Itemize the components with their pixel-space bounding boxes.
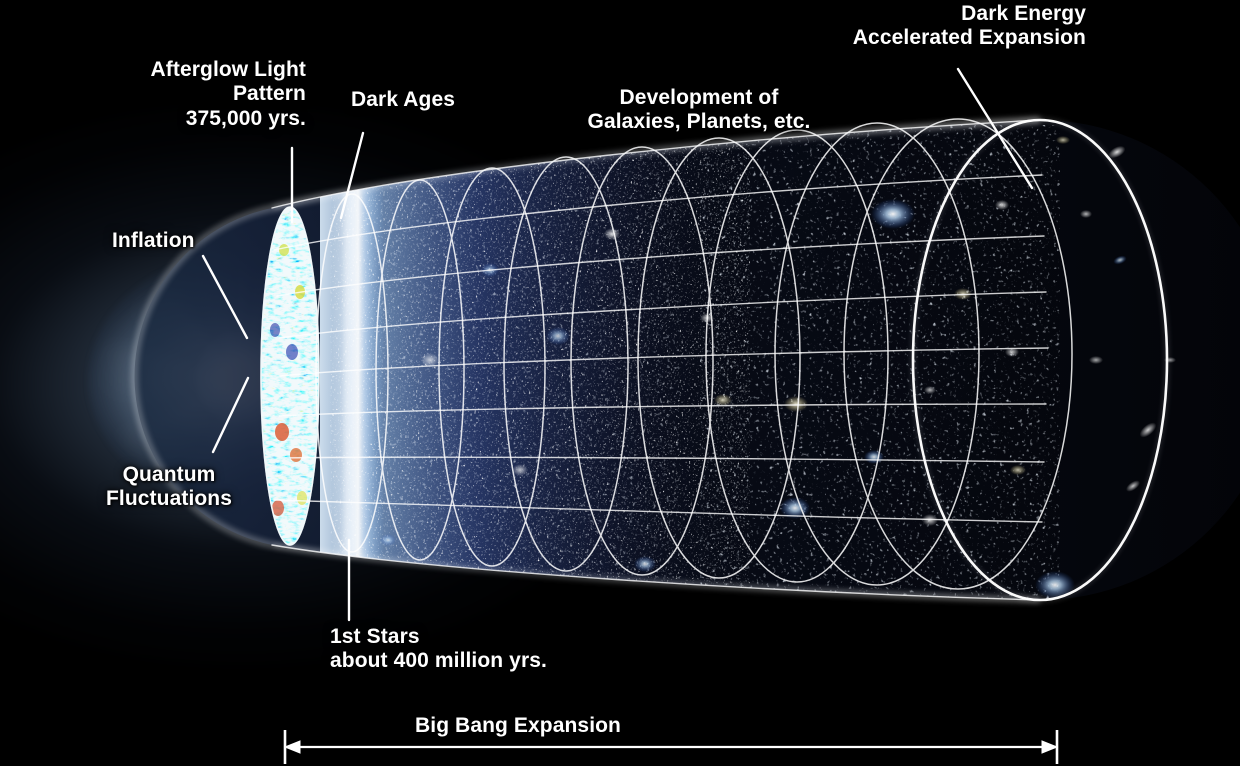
label-big-bang-expansion: Big Bang Expansion [415, 714, 621, 738]
label-development-of-galaxies: Development of Galaxies, Planets, etc. [549, 86, 849, 135]
label-inflation: Inflation [112, 229, 195, 253]
label-first-stars: 1st Stars about 400 million yrs. [330, 625, 547, 674]
label-dark-ages: Dark Ages [351, 88, 455, 112]
label-quantum-fluctuations: Quantum Fluctuations [104, 463, 234, 512]
label-dark-energy: Dark Energy Accelerated Expansion [800, 2, 1086, 51]
cosmology-timeline-diagram: Afterglow Light Pattern 375,000 yrs. Inf… [0, 0, 1240, 766]
arrowhead-left [285, 741, 300, 753]
label-afterglow-light-pattern: Afterglow Light Pattern 375,000 yrs. [106, 58, 306, 131]
big-bang-expansion-arrow [285, 730, 1057, 764]
arrowhead-right [1042, 741, 1057, 753]
